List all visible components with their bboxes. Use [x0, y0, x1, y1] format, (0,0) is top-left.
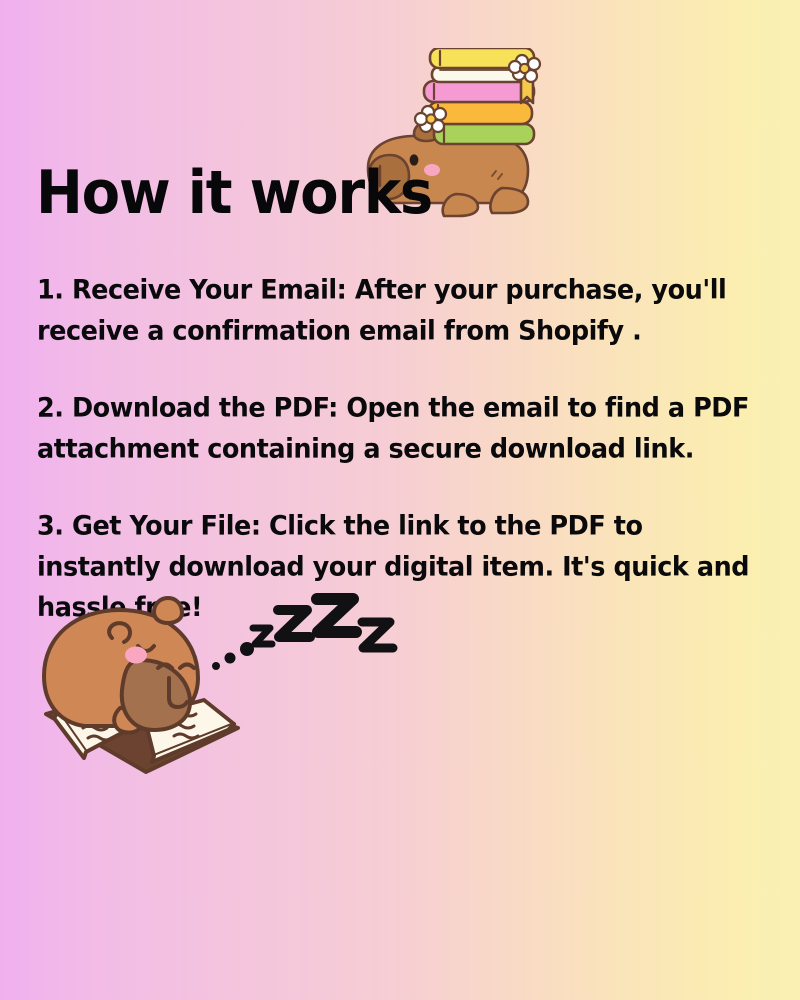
page-title: How it works	[36, 160, 432, 228]
poster-canvas: How it works 1. Receive Your Email: Afte…	[0, 0, 800, 1000]
zzz-glyph-1	[253, 628, 272, 644]
flower-lower-icon	[415, 106, 446, 132]
zzz-glyph-4	[362, 622, 393, 648]
sleeping-capybara-cheek	[125, 647, 147, 664]
book-green	[434, 124, 534, 144]
book-pink	[424, 81, 534, 102]
zzz-glyph-2	[278, 610, 310, 637]
step-item-1: 1. Receive Your Email: After your purcha…	[37, 270, 767, 352]
steps-list: 1. Receive Your Email: After your purcha…	[37, 270, 767, 623]
sleeping-zzz-illustration	[206, 590, 406, 684]
zzz-glyph-3	[317, 599, 356, 632]
zzz-dots	[212, 642, 254, 670]
sleeping-capybara-body	[44, 598, 198, 733]
step-item-2: 2. Download the PDF: Open the email to f…	[37, 388, 767, 470]
